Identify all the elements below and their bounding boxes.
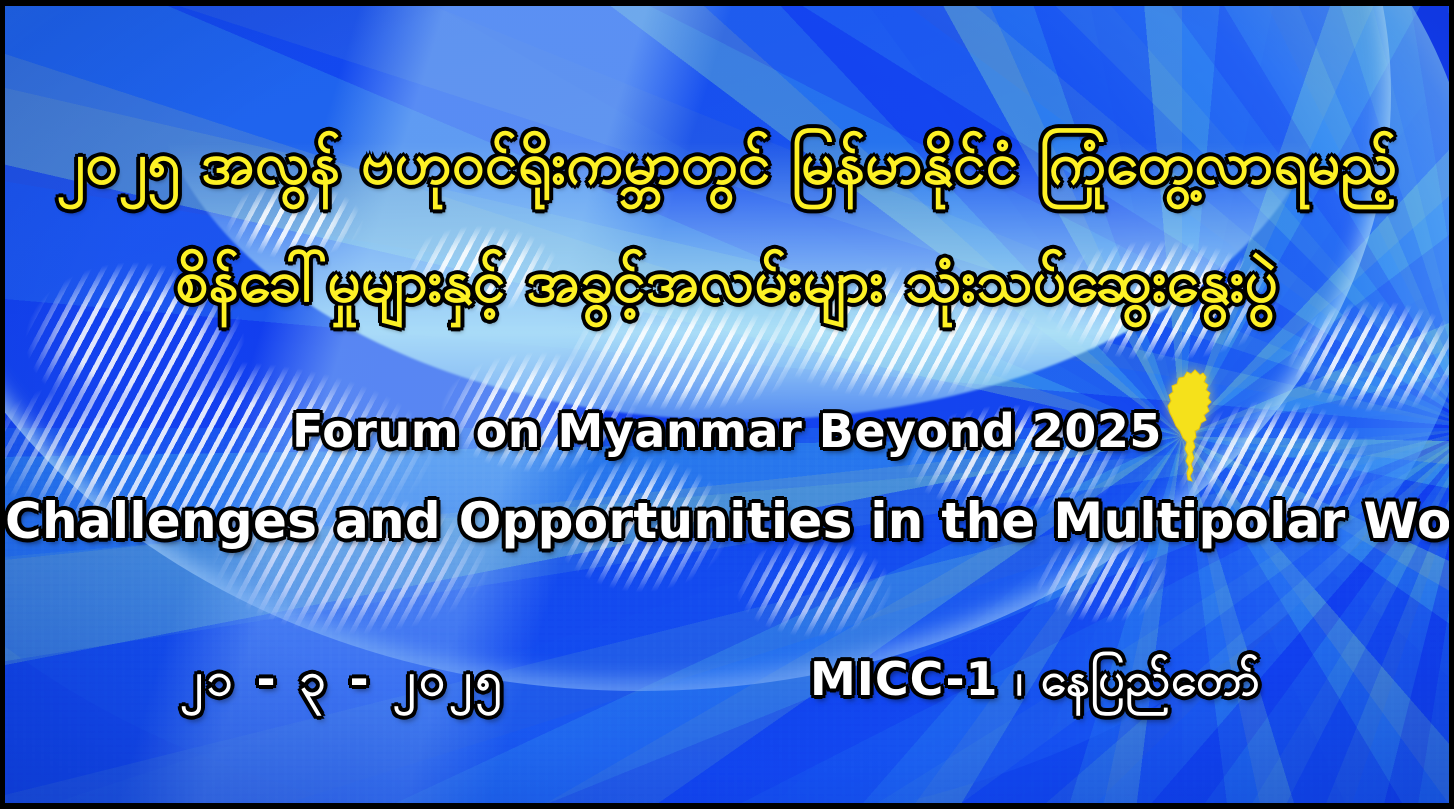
burmese-title-line-1: ၂၀၂၅ အလွန် ဗဟုဝင်ရိုးကမ္ဘာတွင် မြန်မာနို… — [5, 134, 1449, 193]
english-title-line-1: Forum on Myanmar Beyond 2025 — [5, 404, 1449, 458]
text-layer: ၂၀၂၅ အလွန် ဗဟုဝင်ရိုးကမ္ဘာတွင် မြန်မာနို… — [5, 6, 1449, 803]
banner-artwork: ၂၀၂၅ အလွန် ဗဟုဝင်ရိုးကမ္ဘာတွင် မြန်မာနို… — [5, 6, 1449, 803]
banner-stage: ၂၀၂၅ အလွန် ဗဟုဝင်ရိုးကမ္ဘာတွင် မြန်မာနို… — [0, 0, 1454, 809]
english-title-line-2: Challenges and Opportunities in the Mult… — [5, 492, 1449, 550]
event-venue: MICC-1 ၊ နေပြည်တော် — [810, 651, 1261, 718]
burmese-title-line-2: စိန်ခေါ်မှုများနှင့် အခွင့်အလမ်းများ သုံ… — [5, 252, 1449, 311]
event-date: ၂၁ - ၃ - ၂၀၂၅ — [180, 651, 506, 718]
